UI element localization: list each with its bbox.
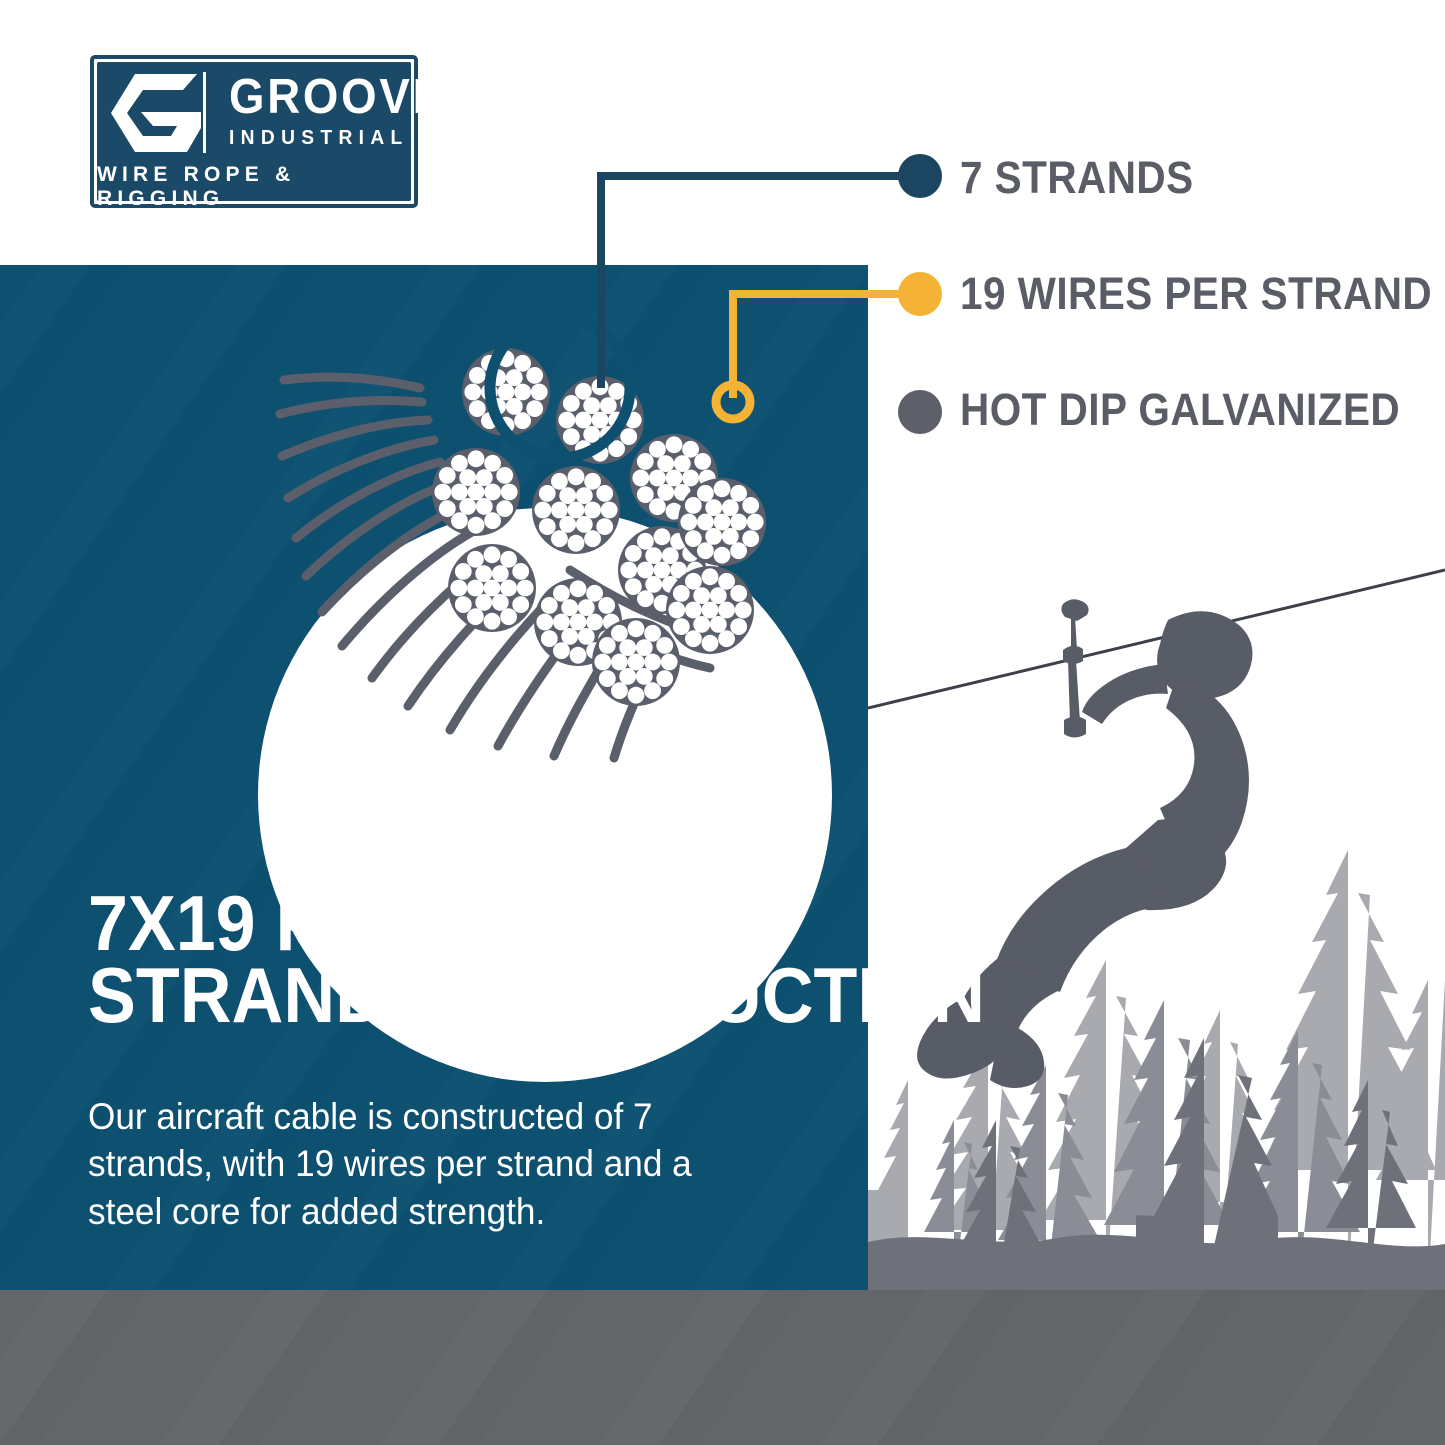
logo-top-row: GROOVE INDUSTRIAL (97, 62, 411, 163)
headline-line-2: STRAND CONSTRUCTION (88, 960, 769, 1032)
callout-dot-galvanized (898, 390, 942, 434)
wire-rope-illustration (270, 270, 830, 790)
zipline-scene (868, 560, 1445, 1290)
callout-dot-strands (898, 154, 942, 198)
body-paragraph: Our aircraft cable is constructed of 7 s… (88, 1093, 715, 1235)
wire-rope-svg (270, 270, 830, 790)
callout-label-wires-per-strand: 19 WIRES PER STRAND (960, 268, 1432, 320)
logo-wordmark: GROOVE INDUSTRIAL (229, 74, 462, 150)
logo-brand-sub: INDUSTRIAL (229, 125, 453, 151)
callout-label-hot-dip-galvanized: HOT DIP GALVANIZED (960, 384, 1400, 436)
callout-dot-wires (898, 272, 942, 316)
callout-label-strands: 7 STRANDS (960, 152, 1194, 204)
groove-g-monogram-icon (109, 74, 205, 152)
zipline-scene-svg (868, 560, 1445, 1290)
logo-tagline: WIRE ROPE & RIGGING (97, 163, 411, 211)
logo-inner-plate: GROOVE INDUSTRIAL WIRE ROPE & RIGGING (97, 62, 411, 201)
gray-band-texture (0, 1290, 1445, 1445)
headline-line-1: 7X19 FLEXIBLE (88, 888, 769, 960)
brand-logo[interactable]: GROOVE INDUSTRIAL WIRE ROPE & RIGGING (90, 55, 418, 208)
headline: 7X19 FLEXIBLE STRAND CONSTRUCTION (88, 888, 769, 1032)
bottom-gray-band (0, 1290, 1445, 1445)
infographic-canvas: 7 STRANDS 19 WIRES PER STRAND HOT DIP GA… (0, 0, 1445, 1445)
logo-brand-name: GROOVE (229, 74, 446, 121)
logo-vertical-divider (203, 72, 206, 153)
logo-tagline-row: WIRE ROPE & RIGGING (97, 163, 411, 211)
rope-strand-cluster (432, 348, 766, 706)
